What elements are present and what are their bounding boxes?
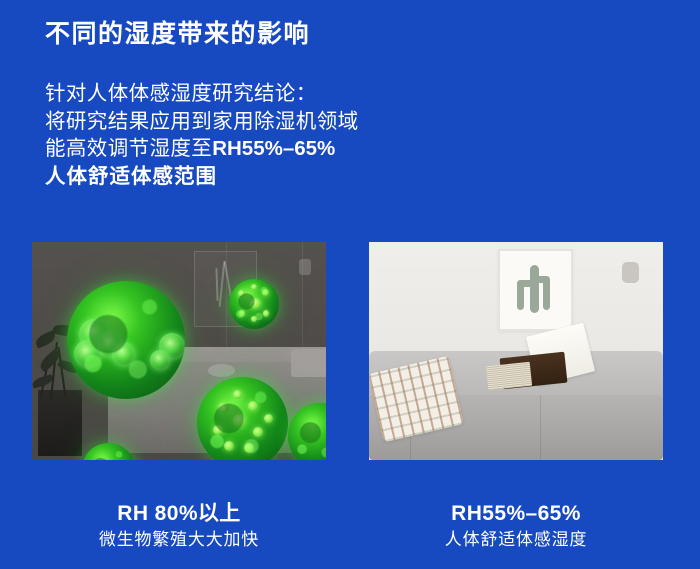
microbe-cluster-small: [229, 279, 279, 329]
microbe-spike: [244, 443, 254, 453]
microbe-spike: [263, 310, 269, 317]
microbe-cell: [159, 333, 185, 359]
microbe-cell: [74, 340, 101, 367]
body-line-3: 能高效调节湿度至RH55%–65%: [45, 135, 465, 163]
humidity-range-value: RH55%–65%: [212, 137, 335, 160]
caption-title: RH 80%以上: [32, 500, 326, 527]
microbe-spike: [238, 290, 245, 297]
microbe-spike: [251, 284, 257, 290]
microbe-cluster-large: [67, 281, 185, 399]
microbe-cell: [150, 350, 170, 370]
plant-pot: [38, 390, 82, 455]
microbe-cluster-bottom: [197, 377, 288, 460]
page-title: 不同的湿度带来的影响: [45, 19, 310, 50]
sofa-cushion: [291, 349, 326, 377]
microbe-spike: [264, 414, 273, 423]
thermostat-icon: [622, 262, 639, 283]
caption-high-humidity: RH 80%以上 微生物繁殖大大加快: [32, 500, 326, 552]
microbe-spike: [233, 390, 242, 399]
photo-comfort-humidity: [369, 242, 663, 460]
photo-high-humidity: [32, 242, 326, 460]
bright-room-scene: [369, 242, 663, 460]
caption-title: RH55%–65%: [369, 500, 663, 527]
body-line-1: 针对人体体感湿度研究结论：: [45, 80, 465, 108]
body-copy: 针对人体体感湿度研究结论： 将研究结果应用到家用除湿机领域 能高效调节湿度至RH…: [45, 80, 465, 190]
poster-root: 不同的湿度带来的影响 针对人体体感湿度研究结论： 将研究结果应用到家用除湿机领域…: [0, 0, 700, 569]
microbe-spike: [218, 403, 228, 413]
body-line-4: 人体舒适体感范围: [45, 163, 465, 191]
body-line-2: 将研究结果应用到家用除湿机领域: [45, 108, 465, 136]
wall-art-frame: [498, 249, 573, 331]
cactus-icon: [530, 265, 539, 314]
wall-fixture: [299, 259, 311, 275]
microbe-spike: [213, 425, 223, 435]
caption-subtitle: 人体舒适体感湿度: [369, 527, 663, 552]
sofa-seam: [540, 395, 541, 460]
microbe-cell: [112, 342, 136, 366]
cactus-icon: [533, 276, 549, 283]
microbe-spike: [262, 289, 269, 296]
microbe-spike: [248, 401, 258, 411]
cactus-icon: [517, 280, 534, 287]
microbe-spike: [224, 441, 234, 451]
microbe-cell: [79, 319, 110, 350]
book-pages-edge: [485, 362, 531, 390]
microbe-spike: [233, 414, 246, 427]
caption-subtitle: 微生物繁殖大大加快: [32, 527, 326, 552]
microbe-spike: [253, 427, 263, 437]
sofa-pillow: [208, 364, 234, 377]
microbe-spike: [250, 298, 261, 309]
microbe-spike: [239, 310, 245, 317]
dark-room-scene: [32, 242, 326, 460]
body-line-3-prefix: 能高效调节湿度至: [45, 137, 212, 160]
caption-comfort-humidity: RH55%–65% 人体舒适体感湿度: [369, 500, 663, 552]
microbe-spike: [251, 316, 257, 322]
microbe-cell: [97, 331, 123, 357]
branch-icon: [215, 268, 218, 301]
